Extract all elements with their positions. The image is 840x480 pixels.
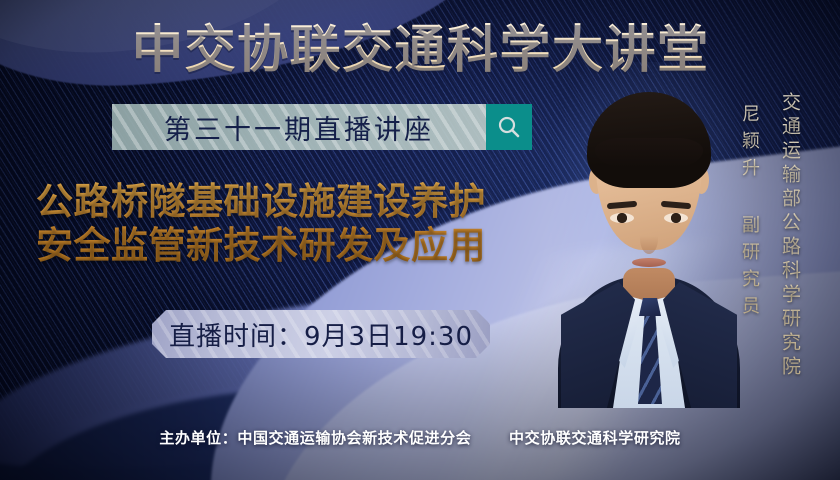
search-icon xyxy=(496,114,522,140)
lecture-topic-line1: 公路桥隧基础设施建设养护 xyxy=(36,180,576,224)
portrait-eyebrow-right xyxy=(661,201,691,210)
speaker-name-title: 尼颖升 副研究员 xyxy=(736,104,762,323)
page-title: 中交协联交通科学大讲堂 xyxy=(132,18,712,84)
portrait-nose xyxy=(640,224,658,254)
portrait-eye-left xyxy=(610,213,634,223)
footer-organizers: 主办单位：中国交通运输协会新技术促进分会 中交协联交通科学研究院 xyxy=(159,427,680,448)
lecture-topic-line2: 安全监管新技术研发及应用 xyxy=(36,224,576,268)
live-stream-poster: 中交协联交通科学大讲堂 第三十一期直播讲座 公路桥隧基础设施建设养护 安全监管新… xyxy=(0,0,840,480)
portrait-mouth xyxy=(632,258,666,267)
episode-banner-bar: 第三十一期直播讲座 xyxy=(112,104,486,150)
speaker-organization: 交通运输部公路科学研究院 xyxy=(777,92,804,380)
episode-banner: 第三十一期直播讲座 xyxy=(112,104,532,150)
episode-label: 第三十一期直播讲座 xyxy=(164,108,434,147)
search-icon-button[interactable] xyxy=(486,104,532,150)
speaker-portrait xyxy=(566,78,732,408)
portrait-eye-right xyxy=(664,213,688,223)
broadcast-time-badge: 直播时间：9月3日19:30 xyxy=(152,310,490,358)
portrait-eyebrow-left xyxy=(607,201,637,210)
lecture-topic: 公路桥隧基础设施建设养护 安全监管新技术研发及应用 xyxy=(36,180,576,268)
footer-organizer: 主办单位：中国交通运输协会新技术促进分会 xyxy=(159,429,471,447)
broadcast-time-label: 直播时间：9月3日19:30 xyxy=(169,316,473,353)
footer-institute: 中交协联交通科学研究院 xyxy=(509,429,681,447)
portrait-hair xyxy=(587,92,711,188)
footer-bar: 主办单位：中国交通运输协会新技术促进分会 中交协联交通科学研究院 xyxy=(0,420,840,454)
